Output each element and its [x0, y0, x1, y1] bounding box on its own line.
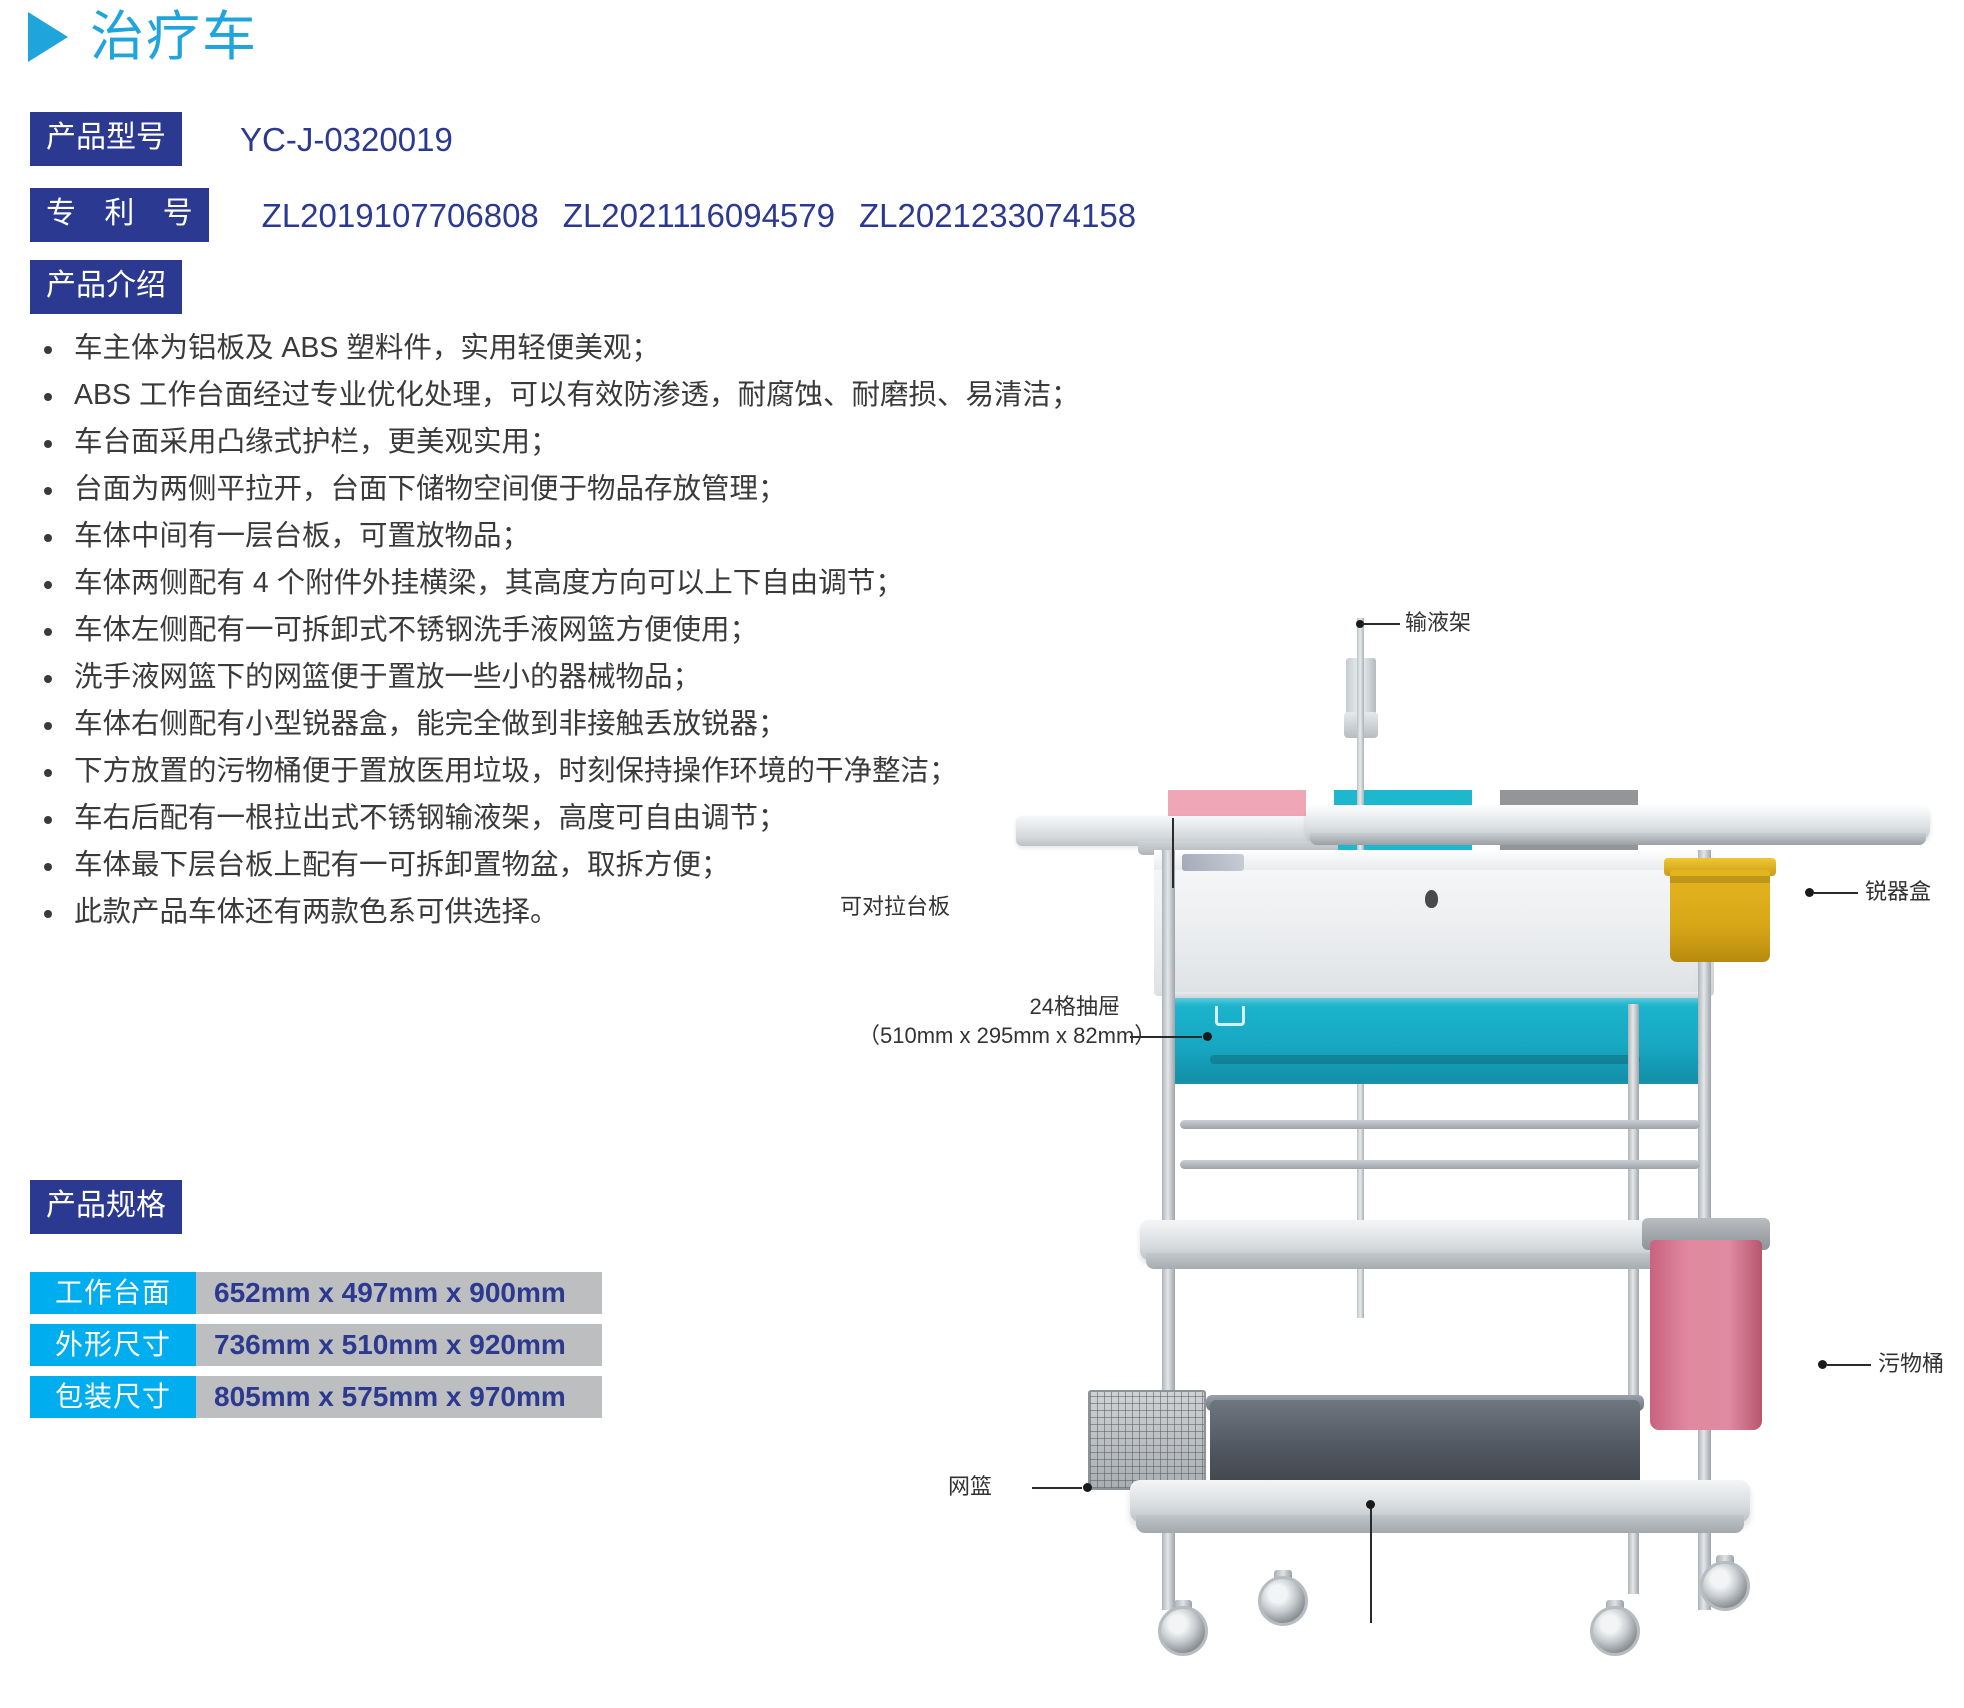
- model-label: 产品型号: [30, 112, 182, 166]
- bottom-shelf-lip: [1136, 1515, 1744, 1533]
- lock-icon: [1425, 890, 1438, 908]
- spec-label: 产品规格: [30, 1180, 182, 1234]
- castor-wheel: [1590, 1600, 1642, 1656]
- callout-dot-waste: [1818, 1360, 1827, 1369]
- page-title: 治疗车: [90, 10, 258, 64]
- intro-label: 产品介绍: [30, 260, 182, 314]
- brand-badge: [1182, 854, 1244, 871]
- callout-label-pull-board: 可对拉台板: [840, 892, 950, 922]
- callout-leader-pull-board: [1172, 818, 1174, 888]
- list-item: 车右后配有一根拉出式不锈钢输液架，高度可自由调节；: [30, 795, 1030, 842]
- callout-leader-basin: [1370, 1505, 1372, 1623]
- patent-number: ZL2021233074158: [859, 197, 1136, 234]
- sharps-box: [1670, 870, 1770, 962]
- table-row: 外形尺寸 736mm x 510mm x 920mm: [30, 1324, 602, 1366]
- list-item: 车体左侧配有一可拆卸式不锈钢洗手液网篮方便使用；: [30, 607, 1030, 654]
- work-surface-edge: [1310, 833, 1926, 845]
- spec-key: 外形尺寸: [30, 1324, 196, 1366]
- list-item: 车体右侧配有小型锐器盒，能完全做到非接触丢放锐器；: [30, 701, 1030, 748]
- sharps-box-band: [1670, 876, 1770, 883]
- callout-dot-sharps: [1805, 888, 1814, 897]
- medical-trolley-illustration: [1010, 600, 1960, 1708]
- spec-value: 805mm x 575mm x 970mm: [196, 1376, 602, 1418]
- product-catalog-page: 治疗车 产品型号 YC-J-0320019 专 利 号 ZL2019107706…: [0, 0, 1964, 1708]
- drawer-label-holder-icon: [1215, 1006, 1245, 1026]
- list-item: 车体最下层台板上配有一可拆卸置物盆，取拆方便；: [30, 842, 1030, 889]
- spec-value: 652mm x 497mm x 900mm: [196, 1272, 602, 1314]
- feature-list: 车主体为铝板及 ABS 塑料件，实用轻便美观； ABS 工作台面经过专业优化处理…: [30, 325, 1030, 936]
- list-item: 洗手液网篮下的网篮便于置放一些小的器械物品；: [30, 654, 1030, 701]
- list-item: 车台面采用凸缘式护栏，更美观实用；: [30, 419, 1030, 466]
- table-row: 工作台面 652mm x 497mm x 900mm: [30, 1272, 602, 1314]
- callout-dot-basket: [1083, 1483, 1092, 1492]
- model-row: 产品型号 YC-J-0320019: [30, 112, 453, 166]
- callout-label-iv-pole: 输液架: [1405, 608, 1471, 638]
- castor-wheel: [1158, 1600, 1210, 1656]
- callout-leader-iv-pole: [1362, 623, 1400, 625]
- page-title-row: 治疗车: [28, 10, 258, 64]
- spec-value: 736mm x 510mm x 920mm: [196, 1324, 602, 1366]
- patent-row: 专 利 号 ZL2019107706808ZL2021116094579ZL20…: [30, 188, 1160, 242]
- callout-leader-waste: [1827, 1364, 1871, 1366]
- callout-label-waste: 污物桶: [1878, 1349, 1944, 1379]
- patent-label: 专 利 号: [30, 188, 209, 242]
- patent-number: ZL2021116094579: [563, 197, 835, 234]
- spec-key: 工作台面: [30, 1272, 196, 1314]
- callout-label-sharps: 锐器盒: [1865, 877, 1931, 907]
- callout-dot-basin: [1366, 1500, 1375, 1509]
- list-item: 车主体为铝板及 ABS 塑料件，实用轻便美观；: [30, 325, 1030, 372]
- play-triangle-icon: [28, 12, 68, 62]
- list-item: 车体两侧配有 4 个附件外挂横梁，其高度方向可以上下自由调节；: [30, 560, 1030, 607]
- waste-bin: [1650, 1240, 1762, 1430]
- callout-drawer-line1: 24格抽屉: [858, 992, 1120, 1021]
- patent-number: ZL2019107706808: [262, 197, 539, 234]
- middle-shelf-lip: [1146, 1253, 1734, 1269]
- intro-heading-row: 产品介绍: [30, 260, 182, 314]
- model-value: YC-J-0320019: [240, 123, 453, 156]
- spec-key: 包装尺寸: [30, 1376, 196, 1418]
- callout-label-basket: 网篮: [948, 1472, 992, 1502]
- side-rail: [1180, 1160, 1700, 1169]
- castor-wheel: [1258, 1570, 1310, 1626]
- table-row: 包装尺寸 805mm x 575mm x 970mm: [30, 1376, 602, 1418]
- callout-leader-basket: [1032, 1487, 1082, 1489]
- callout-label-drawer: 24格抽屉 （510mm x 295mm x 82mm）: [858, 992, 1120, 1050]
- callout-drawer-line2: （510mm x 295mm x 82mm）: [858, 1021, 1120, 1050]
- callout-dot-drawer: [1203, 1032, 1212, 1041]
- spec-table: 工作台面 652mm x 497mm x 900mm 外形尺寸 736mm x …: [30, 1272, 602, 1428]
- cabinet-body: [1154, 850, 1714, 996]
- callout-leader-sharps: [1814, 892, 1858, 894]
- castor-wheel: [1700, 1555, 1752, 1611]
- patent-values: ZL2019107706808ZL2021116094579ZL20212330…: [262, 199, 1160, 232]
- side-rail: [1180, 1120, 1700, 1129]
- list-item: 车体中间有一层台板，可置放物品；: [30, 513, 1030, 560]
- list-item: 台面为两侧平拉开，台面下储物空间便于物品存放管理；: [30, 466, 1030, 513]
- mesh-basket: [1088, 1390, 1206, 1490]
- spec-heading-row: 产品规格: [30, 1180, 182, 1234]
- product-photo: 输液架 可对拉台板 24格抽屉 （510mm x 295mm x 82mm） 锐…: [1010, 600, 1960, 1708]
- list-item: ABS 工作台面经过专业优化处理，可以有效防渗透，耐腐蚀、耐磨损、易清洁；: [30, 372, 1030, 419]
- list-item: 下方放置的污物桶便于置放医用垃圾，时刻保持操作环境的干净整洁；: [30, 748, 1030, 795]
- drawer-handle: [1210, 1055, 1640, 1064]
